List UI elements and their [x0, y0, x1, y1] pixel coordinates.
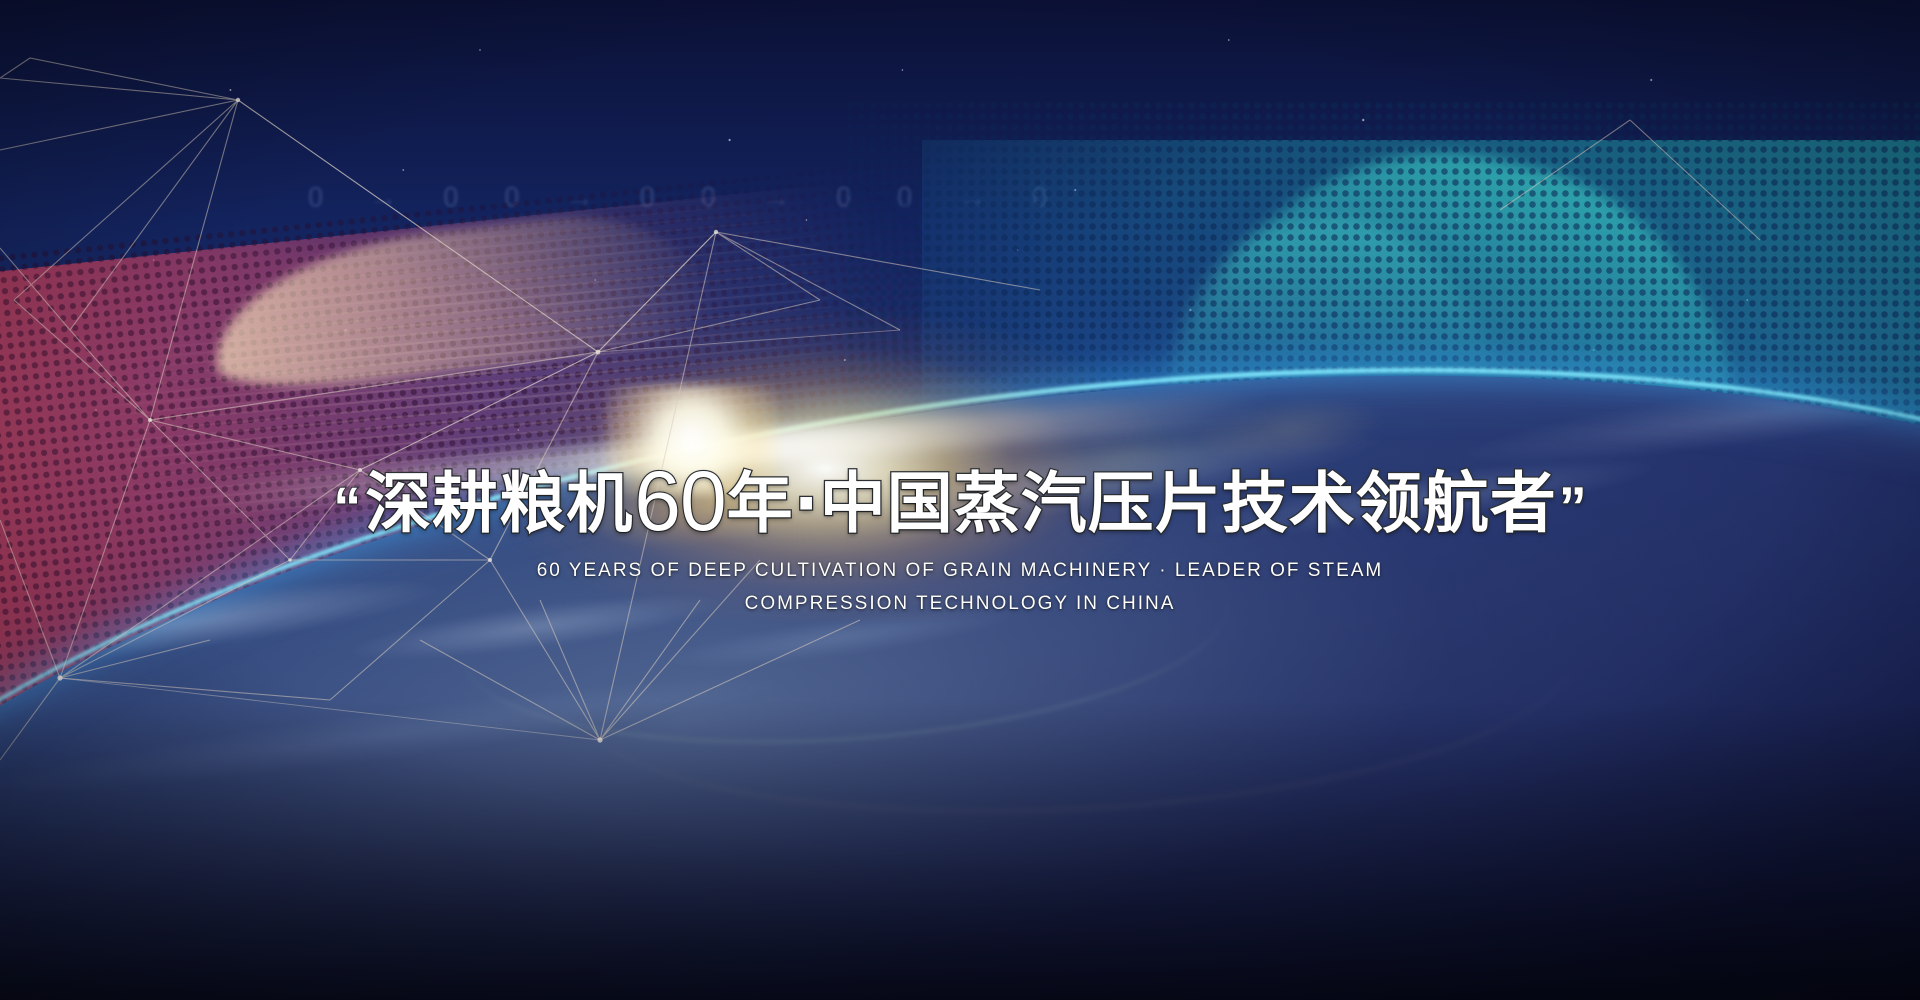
subtitle: 60 YEARS OF DEEP CULTIVATION OF GRAIN MA… [537, 555, 1384, 620]
subtitle-line-1: 60 YEARS OF DEEP CULTIVATION OF GRAIN MA… [537, 560, 1384, 581]
hero-banner: 0 → 0 0 → 0 0 → 0 0 → 0 [0, 0, 1920, 1000]
subtitle-line-2: COMPRESSION TECHNOLOGY IN CHINA [537, 588, 1384, 621]
headline-part-1: 深耕粮机 [365, 471, 633, 537]
headline: “ 深耕粮机 60 年·中国蒸汽压片技术领航者 ” [333, 455, 1587, 539]
quote-open-mark: “ [333, 479, 361, 535]
title-block: “ 深耕粮机 60 年·中国蒸汽压片技术领航者 ” 60 YEARS OF DE… [0, 455, 1920, 620]
headline-number-60: 60 [634, 459, 725, 543]
quote-close-mark: ” [1559, 479, 1587, 535]
headline-part-2: 年·中国蒸汽压片技术领航者 [727, 471, 1557, 537]
